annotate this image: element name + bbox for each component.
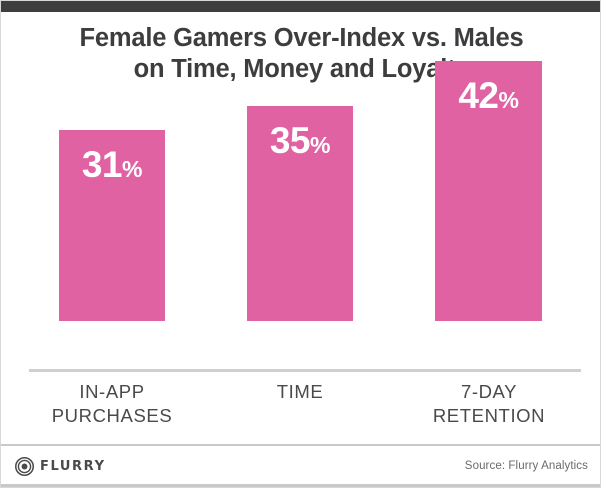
category-label-time-line-1: TIME: [197, 380, 403, 404]
bar-value-percent-in-app-purchases: %: [122, 156, 142, 182]
category-label-7-day-retention: 7-DAY RETENTION: [386, 380, 592, 428]
bar-value-number-7-day-retention: 42: [458, 75, 498, 116]
bar-value-in-app-purchases: 31%: [59, 146, 165, 183]
bar-column-in-app-purchases: 31%: [59, 21, 165, 321]
category-label-in-app-purchases-line-1: IN-APP: [9, 380, 215, 404]
footer: FLURRY Source: Flurry Analytics: [1, 446, 601, 487]
bar-column-time: 35%: [247, 21, 353, 321]
chart-baseline-axis: [29, 369, 581, 372]
bar-value-percent-time: %: [310, 132, 330, 158]
bar-chart: 31% IN-APP PURCHASES 35% TIME 42%: [1, 1, 601, 441]
bottom-rule: [1, 484, 601, 487]
bar-value-percent-7-day-retention: %: [499, 87, 519, 113]
bar-value-number-time: 35: [270, 120, 310, 161]
flurry-circle-icon: [15, 457, 34, 476]
bar-value-7-day-retention: 42%: [435, 77, 542, 114]
bar-value-time: 35%: [247, 122, 353, 159]
category-label-time: TIME: [197, 380, 403, 404]
category-label-in-app-purchases: IN-APP PURCHASES: [9, 380, 215, 428]
category-label-7-day-retention-line-1: 7-DAY: [386, 380, 592, 404]
source-attribution: Source: Flurry Analytics: [465, 460, 588, 472]
bar-in-app-purchases[interactable]: 31%: [59, 130, 165, 321]
bar-column-7-day-retention: 42%: [435, 21, 542, 321]
flurry-logo-text: FLURRY: [40, 459, 106, 474]
category-label-in-app-purchases-line-2: PURCHASES: [9, 404, 215, 428]
category-label-7-day-retention-line-2: RETENTION: [386, 404, 592, 428]
flurry-infographic: Female Gamers Over-Index vs. Males on Ti…: [0, 0, 601, 488]
bar-7-day-retention[interactable]: 42%: [435, 61, 542, 321]
bar-time[interactable]: 35%: [247, 106, 353, 321]
flurry-logo: FLURRY: [15, 457, 106, 476]
bar-value-number-in-app-purchases: 31: [82, 144, 122, 185]
